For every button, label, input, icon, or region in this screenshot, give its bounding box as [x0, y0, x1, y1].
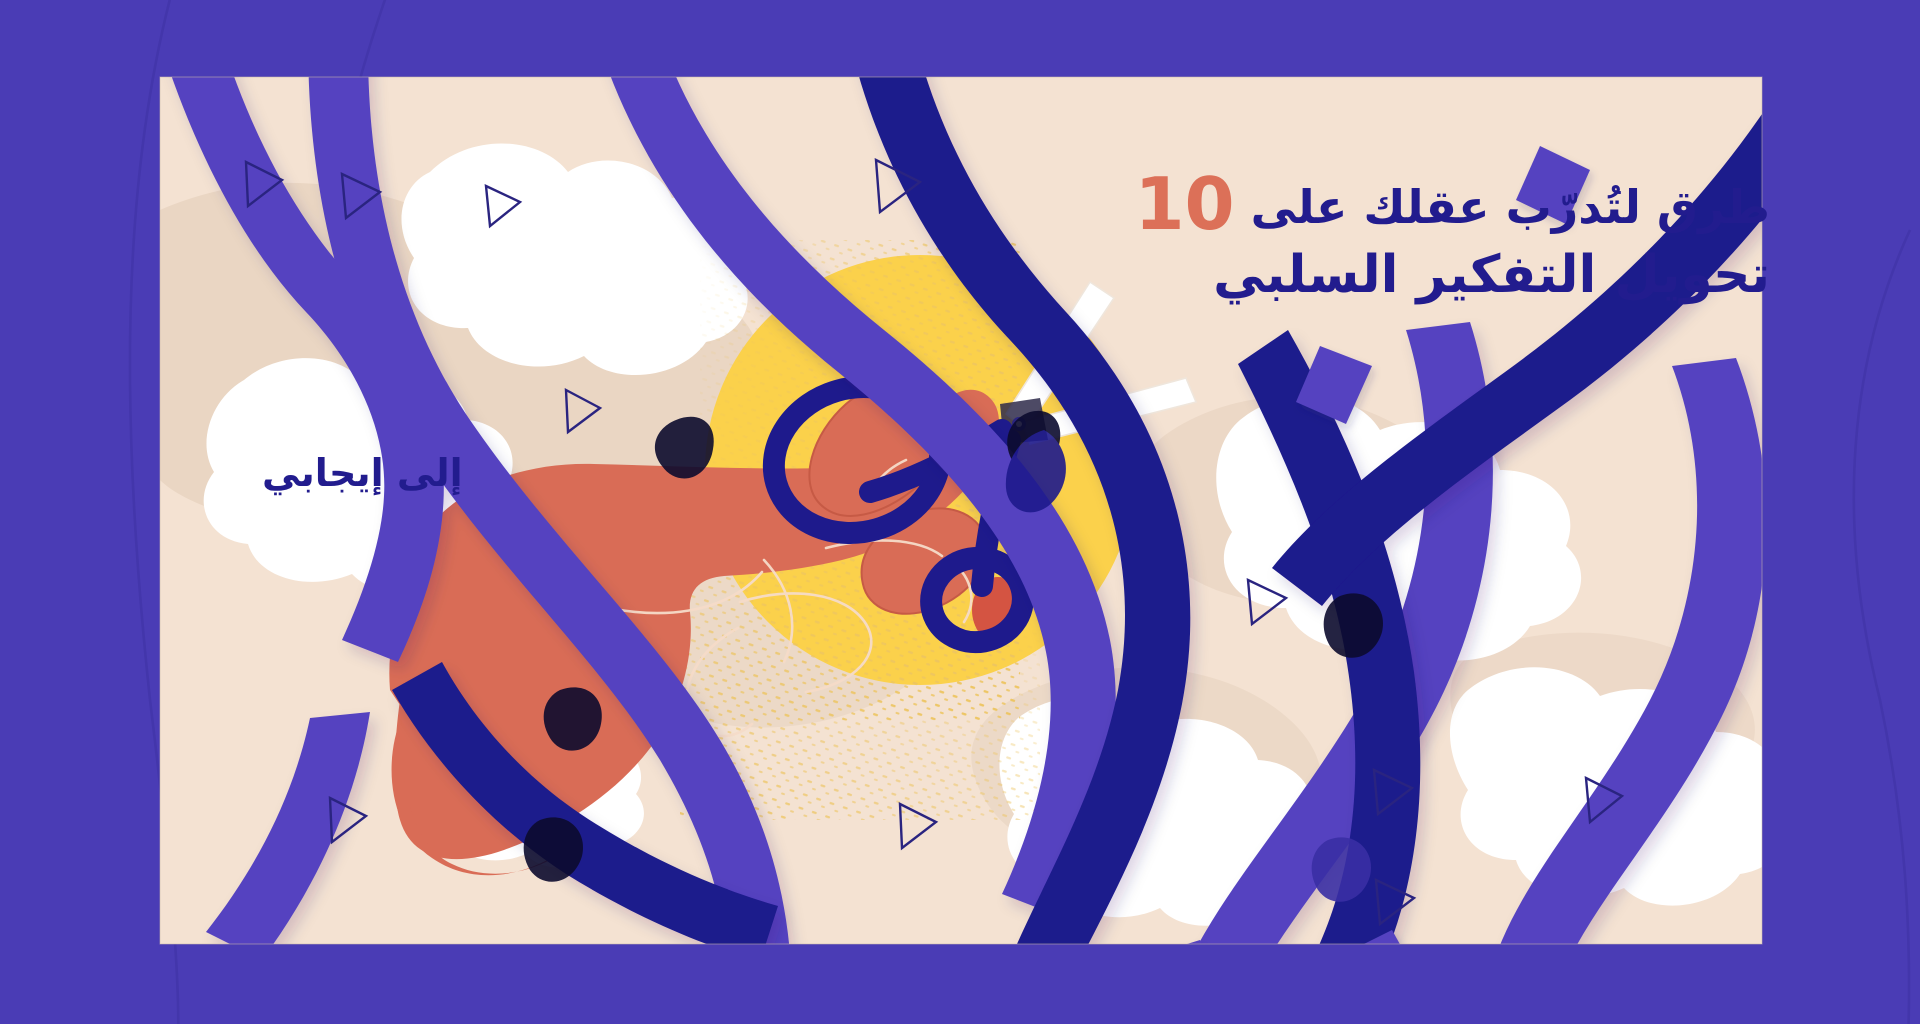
poster-illustration: [0, 0, 1920, 1024]
headline: طرق لتُدرّب عقلك على 10 تحويل التفكير ال…: [1134, 166, 1770, 303]
headline-line-1: طرق لتُدرّب عقلك على 10: [1134, 166, 1770, 242]
headline-number: 10: [1134, 162, 1234, 246]
headline-line-2: تحويل التفكير السلبي: [1134, 248, 1770, 303]
headline-text-line-1: طرق لتُدرّب عقلك على: [1251, 180, 1770, 234]
subline: إلى إيجابي: [262, 451, 463, 495]
poster-canvas: طرق لتُدرّب عقلك على 10 تحويل التفكير ال…: [0, 0, 1920, 1024]
